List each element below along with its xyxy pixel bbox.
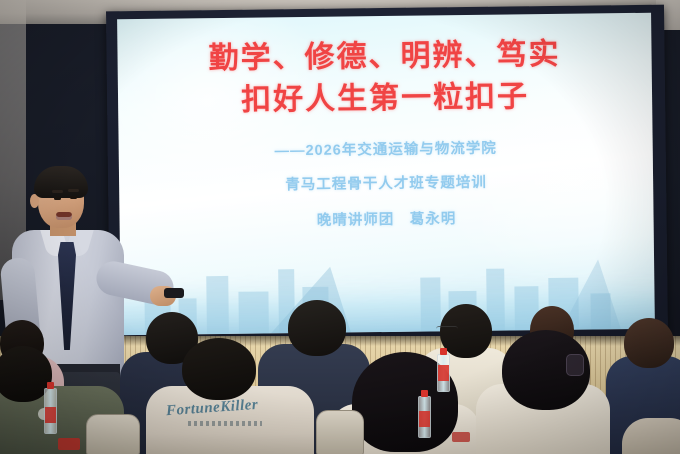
slide-subtitle-line-2: 青马工程骨干人才班专题培训 (119, 169, 653, 197)
slide-subtitle-line-3: 晚晴讲师团 葛永明 (119, 205, 653, 233)
presenter-eye-right (70, 196, 77, 199)
presenter-hair (34, 166, 88, 198)
sweatshirt-subtext (188, 421, 262, 426)
phone-on-desk (58, 438, 80, 450)
presenter-eye-left (54, 197, 61, 200)
bottle-label (438, 365, 449, 381)
presentation-slide: 勤学、修德、明辨、笃实 扣好人生第一粒扣子 ——2026年交通运输与物流学院 青… (117, 13, 655, 336)
lecture-hall-photo: 勤学、修德、明辨、笃实 扣好人生第一粒扣子 ——2026年交通运输与物流学院 青… (0, 0, 680, 454)
water-bottle (418, 396, 431, 438)
phone-on-desk (452, 432, 470, 442)
glasses-icon (436, 326, 458, 333)
attendee-head (182, 338, 256, 400)
water-bottle (44, 388, 57, 434)
bottle-label (45, 407, 56, 423)
attendee-head (288, 300, 346, 356)
bottle-cap-icon (421, 390, 428, 397)
chair-back (86, 414, 140, 454)
presenter-eyebrow-left (52, 190, 63, 193)
chair-back (316, 410, 364, 454)
slide-title-line-1: 勤学、修德、明辨、笃实 (117, 33, 651, 82)
slide-title-line-2: 扣好人生第一粒扣子 (118, 75, 652, 124)
presentation-clicker (164, 288, 184, 298)
presenter-eyebrow-right (68, 189, 79, 192)
water-bottle (437, 354, 450, 392)
bottle-label (419, 411, 430, 427)
presenter-mouth (56, 212, 72, 220)
hair-clip-icon (566, 354, 584, 376)
slide-subtitle-line-1: ——2026年交通运输与物流学院 (119, 135, 653, 163)
bottle-cap-icon (440, 348, 447, 355)
bottle-cap-icon (47, 382, 54, 389)
attendee-body (622, 418, 680, 454)
attendee-head (624, 318, 674, 368)
